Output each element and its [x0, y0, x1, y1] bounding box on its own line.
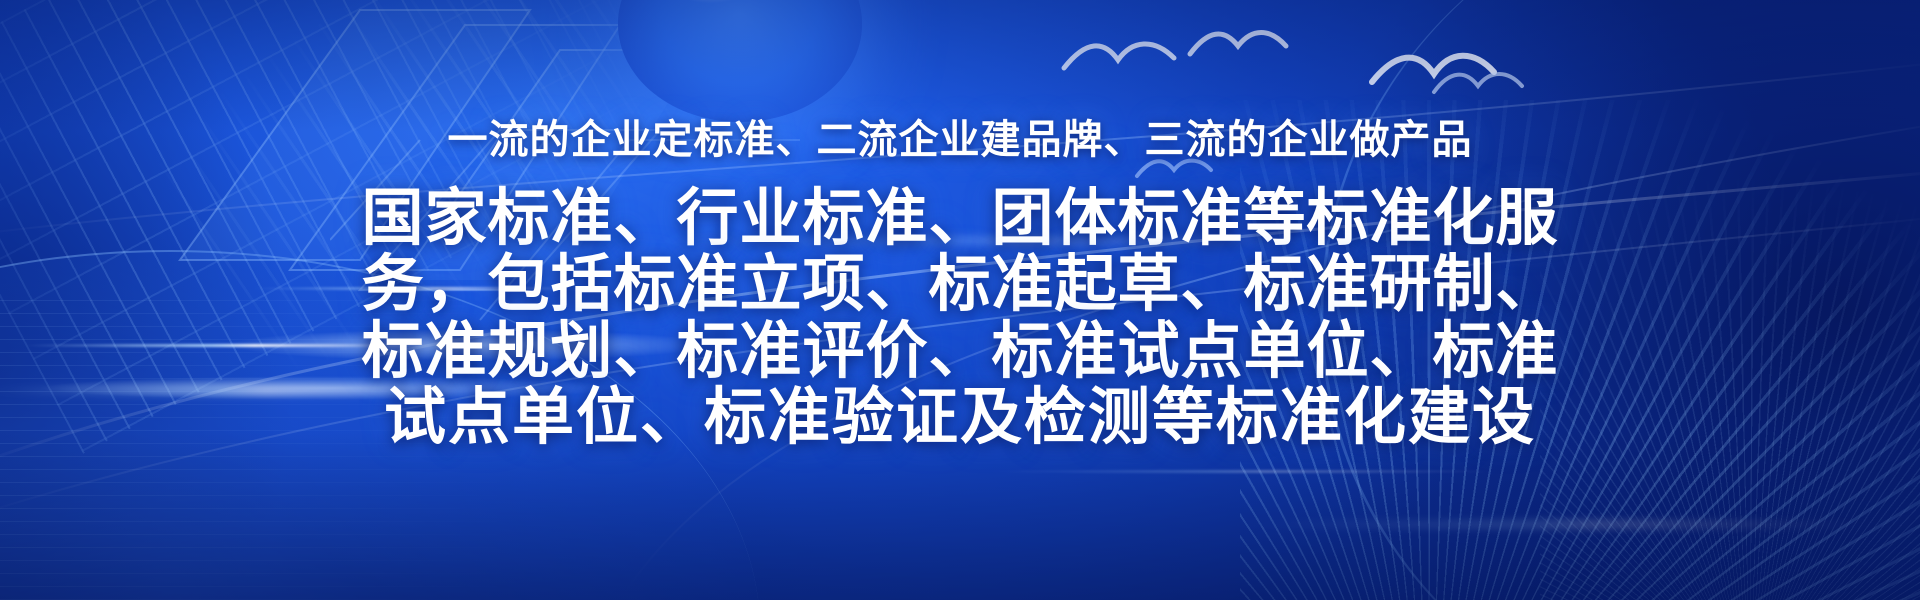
body-line-2: 务，包括标准立项、标准起草、标准研制、: [315, 252, 1605, 318]
banner-text-block: 一流的企业定标准、二流企业建品牌、三流的企业做产品 国家标准、行业标准、团体标准…: [0, 0, 1920, 451]
body-line-4: 试点单位、标准验证及检测等标准化建设: [315, 385, 1605, 451]
promo-banner: 一流的企业定标准、二流企业建品牌、三流的企业做产品 国家标准、行业标准、团体标准…: [0, 0, 1920, 600]
light-streak: [980, 470, 1500, 473]
banner-headline: 一流的企业定标准、二流企业建品牌、三流的企业做产品: [0, 0, 1920, 164]
body-line-3: 标准规划、标准评价、标准试点单位、标准: [315, 319, 1605, 385]
banner-body-copy: 国家标准、行业标准、团体标准等标准化服 务，包括标准立项、标准起草、标准研制、 …: [315, 164, 1605, 451]
body-line-1: 国家标准、行业标准、团体标准等标准化服: [315, 186, 1605, 252]
light-streak: [1240, 520, 1880, 529]
